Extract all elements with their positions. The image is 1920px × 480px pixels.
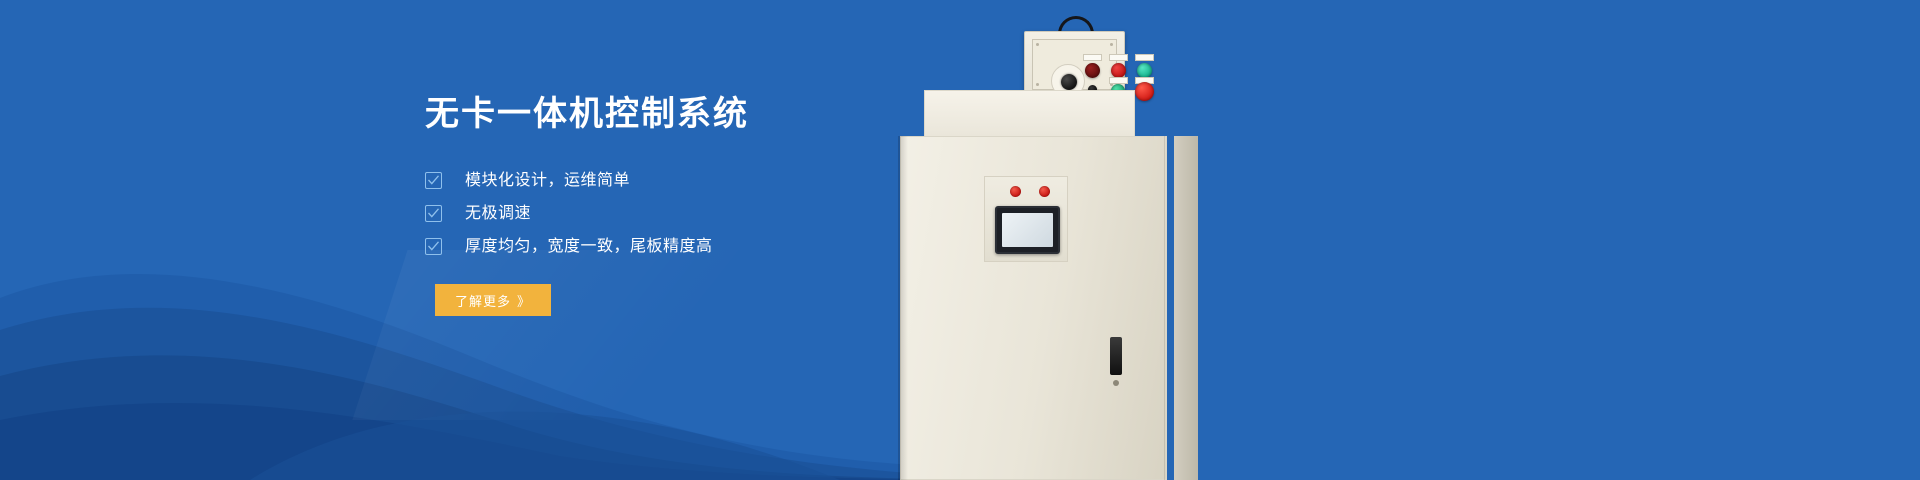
- label-tag: [1109, 77, 1128, 84]
- selector-knob[interactable]: [1061, 74, 1077, 90]
- double-chevron-right-icon: 》: [517, 291, 531, 310]
- screw-icon: [1110, 43, 1113, 46]
- cabinet-seam: [1164, 136, 1165, 480]
- cabinet-top: [924, 90, 1135, 137]
- control-box-faceplate: [1032, 39, 1117, 90]
- red-lamp[interactable]: [1111, 63, 1126, 78]
- check-square-icon: [425, 238, 442, 255]
- screw-icon: [1036, 83, 1039, 86]
- cabinet-right-edge: [1174, 136, 1198, 480]
- touchscreen-display[interactable]: [995, 206, 1060, 254]
- learn-more-label: 了解更多: [455, 291, 511, 310]
- feature-label: 模块化设计，运维简单: [465, 171, 630, 191]
- hero-banner: 无卡一体机控制系统 模块化设计，运维简单 无极调速: [0, 0, 1920, 480]
- touchscreen-surface[interactable]: [1002, 213, 1053, 247]
- machine-photo: [898, 0, 1198, 480]
- red-lamp[interactable]: [1039, 186, 1050, 197]
- green-lamp[interactable]: [1137, 63, 1152, 78]
- label-tag: [1109, 54, 1128, 61]
- check-square-icon: [425, 205, 442, 222]
- cabinet-shadow: [898, 136, 908, 480]
- label-tag: [1135, 54, 1154, 61]
- feature-label: 无极调速: [465, 204, 531, 224]
- cabinet-lock-handle[interactable]: [1110, 337, 1122, 375]
- label-tag: [1083, 54, 1102, 61]
- dark-red-lamp[interactable]: [1085, 63, 1100, 78]
- learn-more-button[interactable]: 了解更多 》: [435, 284, 551, 316]
- red-lamp[interactable]: [1010, 186, 1021, 197]
- red-emergency-stop-button[interactable]: [1135, 82, 1154, 101]
- screw-icon: [1036, 43, 1039, 46]
- control-box: [1024, 31, 1125, 98]
- feature-label: 厚度均匀，宽度一致，尾板精度高: [465, 237, 713, 257]
- cabinet-lock-dot: [1113, 380, 1119, 386]
- check-square-icon: [425, 172, 442, 189]
